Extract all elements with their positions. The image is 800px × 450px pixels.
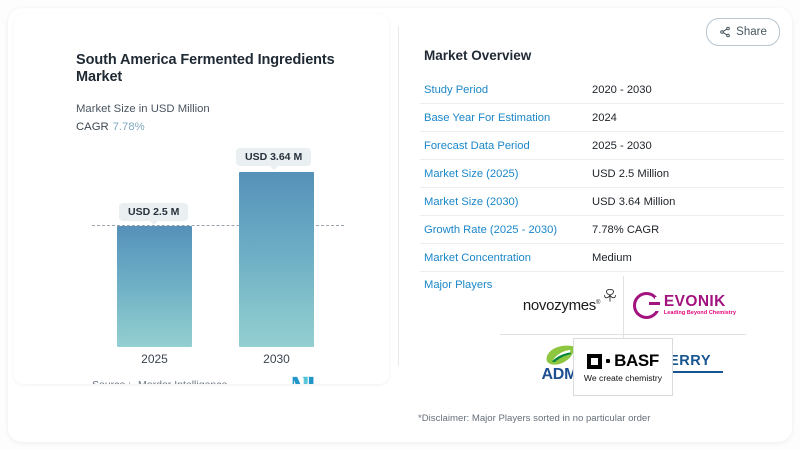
table-cell-value: USD 2.5 Million bbox=[592, 168, 669, 180]
logo-cell-basf: BASF We create chemistry bbox=[573, 338, 673, 396]
chart-source-label: Source : bbox=[92, 379, 131, 384]
mordor-intelligence-logo-icon bbox=[292, 376, 318, 384]
novozymes-logo: novozymes® bbox=[523, 297, 600, 314]
screenshot-root: Share South America Fermented Ingredient… bbox=[0, 0, 800, 450]
panel-divider bbox=[398, 26, 399, 366]
logo-cell-evonik: EVONIK Leading Beyond Chemistry bbox=[623, 276, 746, 334]
table-cell-value: 2025 - 2030 bbox=[592, 140, 652, 152]
table-cell-value: 2020 - 2030 bbox=[592, 84, 652, 96]
market-overview-table: Study Period 2020 - 2030 Base Year For E… bbox=[420, 76, 784, 298]
evonik-wordmark: EVONIK bbox=[664, 294, 736, 310]
bar-value-label-2025: USD 2.5 M bbox=[119, 203, 188, 221]
x-axis-tick-2030: 2030 bbox=[239, 352, 314, 366]
table-cell-key: Market Size (2025) bbox=[420, 168, 592, 180]
table-cell-value: USD 3.64 Million bbox=[592, 196, 675, 208]
evonik-ring-icon bbox=[633, 292, 660, 319]
share-icon bbox=[719, 26, 731, 38]
table-row: Forecast Data Period 2025 - 2030 bbox=[420, 132, 784, 160]
table-row: Market Size (2025) USD 2.5 Million bbox=[420, 160, 784, 188]
table-row: Growth Rate (2025 - 2030) 7.78% CAGR bbox=[420, 216, 784, 244]
bar-2030[interactable] bbox=[239, 172, 314, 347]
table-row: Market Concentration Medium bbox=[420, 244, 784, 272]
table-cell-key: Base Year For Estimation bbox=[420, 112, 592, 124]
basf-dot-icon bbox=[606, 359, 610, 363]
table-cell-value: Medium bbox=[592, 252, 632, 264]
adm-wordmark: ADM bbox=[541, 366, 577, 383]
table-cell-value: 2024 bbox=[592, 112, 617, 124]
table-row: Market Size (2030) USD 3.64 Million bbox=[420, 188, 784, 216]
table-cell-key: Study Period bbox=[420, 84, 592, 96]
basf-logo: BASF bbox=[587, 351, 659, 371]
x-axis-tick-2025: 2025 bbox=[117, 352, 192, 366]
share-button[interactable]: Share bbox=[706, 18, 780, 46]
table-row: Base Year For Estimation 2024 bbox=[420, 104, 784, 132]
market-overview-title: Market Overview bbox=[424, 48, 531, 63]
table-cell-key: Market Size (2030) bbox=[420, 196, 592, 208]
evonik-tagline: Leading Beyond Chemistry bbox=[664, 311, 736, 316]
basf-wordmark: BASF bbox=[614, 351, 659, 371]
basf-square-icon bbox=[587, 354, 602, 369]
bar-2025[interactable] bbox=[117, 226, 192, 347]
evonik-logo: EVONIK Leading Beyond Chemistry bbox=[633, 292, 736, 319]
table-cell-value: 7.78% CAGR bbox=[592, 224, 659, 236]
novozymes-wordmark: novozymes bbox=[523, 297, 596, 314]
chart-panel: South America Fermented Ingredients Mark… bbox=[14, 14, 389, 384]
chart-source-value: Mordor Intelligence bbox=[138, 379, 227, 384]
table-row: Study Period 2020 - 2030 bbox=[420, 76, 784, 104]
bar-value-label-2030: USD 3.64 M bbox=[236, 148, 311, 166]
logo-cell-novozymes: novozymes® bbox=[500, 276, 623, 334]
chart-source: Source : Mordor Intelligence bbox=[92, 379, 227, 384]
share-button-label: Share bbox=[736, 26, 767, 38]
basf-tagline: We create chemistry bbox=[584, 373, 662, 383]
table-cell-key: Market Concentration bbox=[420, 252, 592, 264]
bar-chart-plot: USD 2.5 M USD 3.64 M 2025 2030 bbox=[14, 14, 389, 384]
disclaimer-text: *Disclaimer: Major Players sorted in no … bbox=[418, 413, 650, 424]
table-cell-key: Forecast Data Period bbox=[420, 140, 592, 152]
novozymes-flower-icon bbox=[602, 287, 618, 303]
table-cell-key: Growth Rate (2025 - 2030) bbox=[420, 224, 592, 236]
novozymes-registered-mark: ® bbox=[596, 300, 600, 306]
